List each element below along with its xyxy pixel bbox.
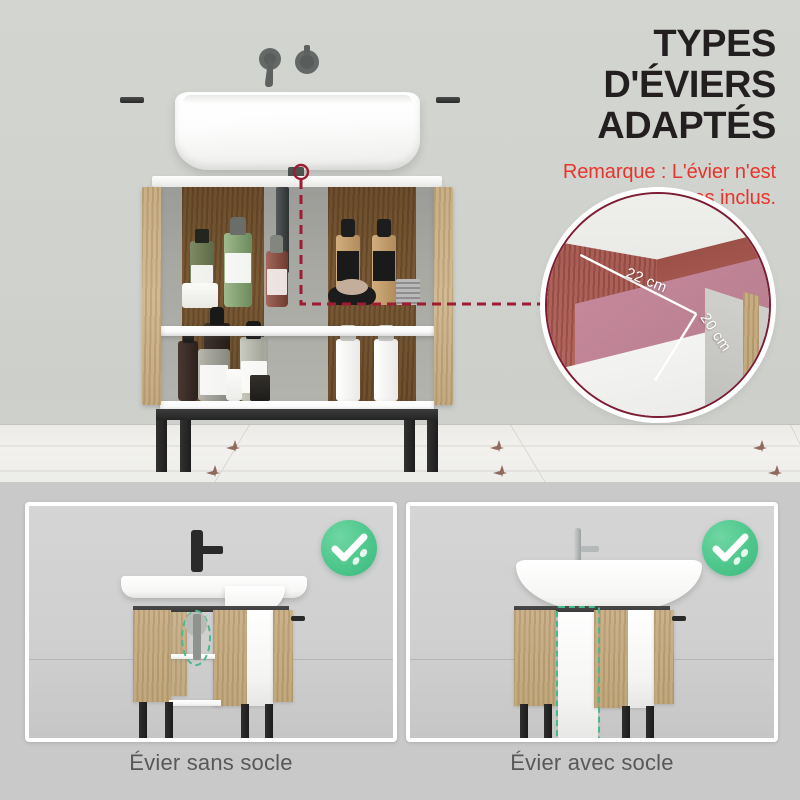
- bottle-label: [267, 269, 287, 295]
- detail-zoom-circle: 22 cm 20 cm: [545, 192, 771, 418]
- mini-leg: [622, 706, 630, 742]
- faucet-icon: [250, 45, 340, 93]
- tube-white: [226, 369, 242, 401]
- mini-door-right-edge: [273, 610, 293, 702]
- mini-leg: [265, 704, 273, 742]
- comparison-section: Évier sans socle: [0, 482, 800, 800]
- bottle-dark: [178, 341, 198, 401]
- bottle-pump: [230, 217, 246, 235]
- mini-door-handle: [291, 616, 305, 621]
- status-badge-check: [702, 520, 758, 576]
- mini-faucet-spout: [201, 546, 223, 554]
- mini-leg: [241, 704, 249, 742]
- product-illustration: [120, 45, 450, 445]
- mini-sink-basin: [516, 560, 702, 612]
- bottle-label: [191, 265, 213, 283]
- mini-door-left: [514, 610, 556, 706]
- jar-white: [182, 283, 218, 308]
- mini-door-right-white: [247, 610, 273, 706]
- mini-leg: [139, 702, 147, 740]
- mini-door-left: [133, 610, 171, 702]
- check-icon: [702, 520, 758, 576]
- mini-leg: [165, 702, 173, 738]
- zoom-dimension-lines: [547, 194, 769, 416]
- bottle-label: [225, 253, 251, 283]
- bottle-label-black: [337, 251, 359, 281]
- sink-basin: [175, 92, 420, 170]
- mini-shelf-bottom: [169, 700, 221, 706]
- hero-section: TYPES D'ÉVIERS ADAPTÉS Remarque : L'évie…: [0, 0, 800, 482]
- mini-highlight-dashed-rect: [556, 606, 600, 742]
- mini-door-right-wood: [213, 610, 247, 706]
- mini-door-right-white: [628, 610, 654, 708]
- shelf-middle: [160, 326, 434, 336]
- bottle-cap-black: [377, 219, 391, 237]
- cabinet-base-frame: [156, 409, 438, 420]
- bottle-pump: [210, 307, 224, 325]
- door-handle-right: [436, 97, 460, 103]
- mini-leg: [646, 706, 654, 742]
- metal-tins: [396, 279, 420, 305]
- panel-label-sans-socle: Évier sans socle: [25, 750, 397, 776]
- panel-label-avec-socle: Évier avec socle: [406, 750, 778, 776]
- bottle-label-black: [373, 251, 395, 281]
- cabinet-interior: [160, 187, 434, 409]
- panel-card: [25, 502, 397, 742]
- bottle-white-tall: [336, 339, 360, 401]
- cabinet-leg: [156, 420, 167, 472]
- door-handle-left: [120, 97, 144, 103]
- bottle-white-tall-2: [374, 339, 398, 401]
- status-badge-check: [321, 520, 377, 576]
- heading-block: TYPES D'ÉVIERS ADAPTÉS Remarque : L'évie…: [416, 24, 776, 211]
- cabinet-leg: [427, 420, 438, 472]
- cabinet-leg: [180, 420, 191, 472]
- mini-leg: [544, 704, 552, 742]
- cabinet-top-panel: [152, 176, 442, 187]
- cabinet-door-left: [142, 187, 161, 405]
- mini-faucet-spout: [581, 546, 599, 552]
- cabinet-door-right: [434, 187, 453, 405]
- comparison-panel-sans-socle[interactable]: Évier sans socle: [25, 502, 397, 742]
- page-title: TYPES D'ÉVIERS ADAPTÉS: [416, 24, 776, 147]
- mini-trap-pipe: [193, 614, 201, 660]
- panel-card: [406, 502, 778, 742]
- bottle-cap: [195, 229, 209, 243]
- mini-door-handle: [672, 616, 686, 621]
- cabinet-leg: [404, 420, 415, 472]
- mini-door-right-edge: [654, 610, 674, 704]
- bottle-cap-black: [341, 219, 355, 237]
- candle-jar: [250, 375, 270, 401]
- bottle-label: [200, 365, 228, 395]
- bottle-pump: [270, 235, 283, 253]
- soap-bar: [336, 279, 368, 295]
- check-icon: [321, 520, 377, 576]
- mini-leg: [520, 704, 528, 742]
- comparison-panel-avec-socle[interactable]: Évier avec socle: [406, 502, 778, 742]
